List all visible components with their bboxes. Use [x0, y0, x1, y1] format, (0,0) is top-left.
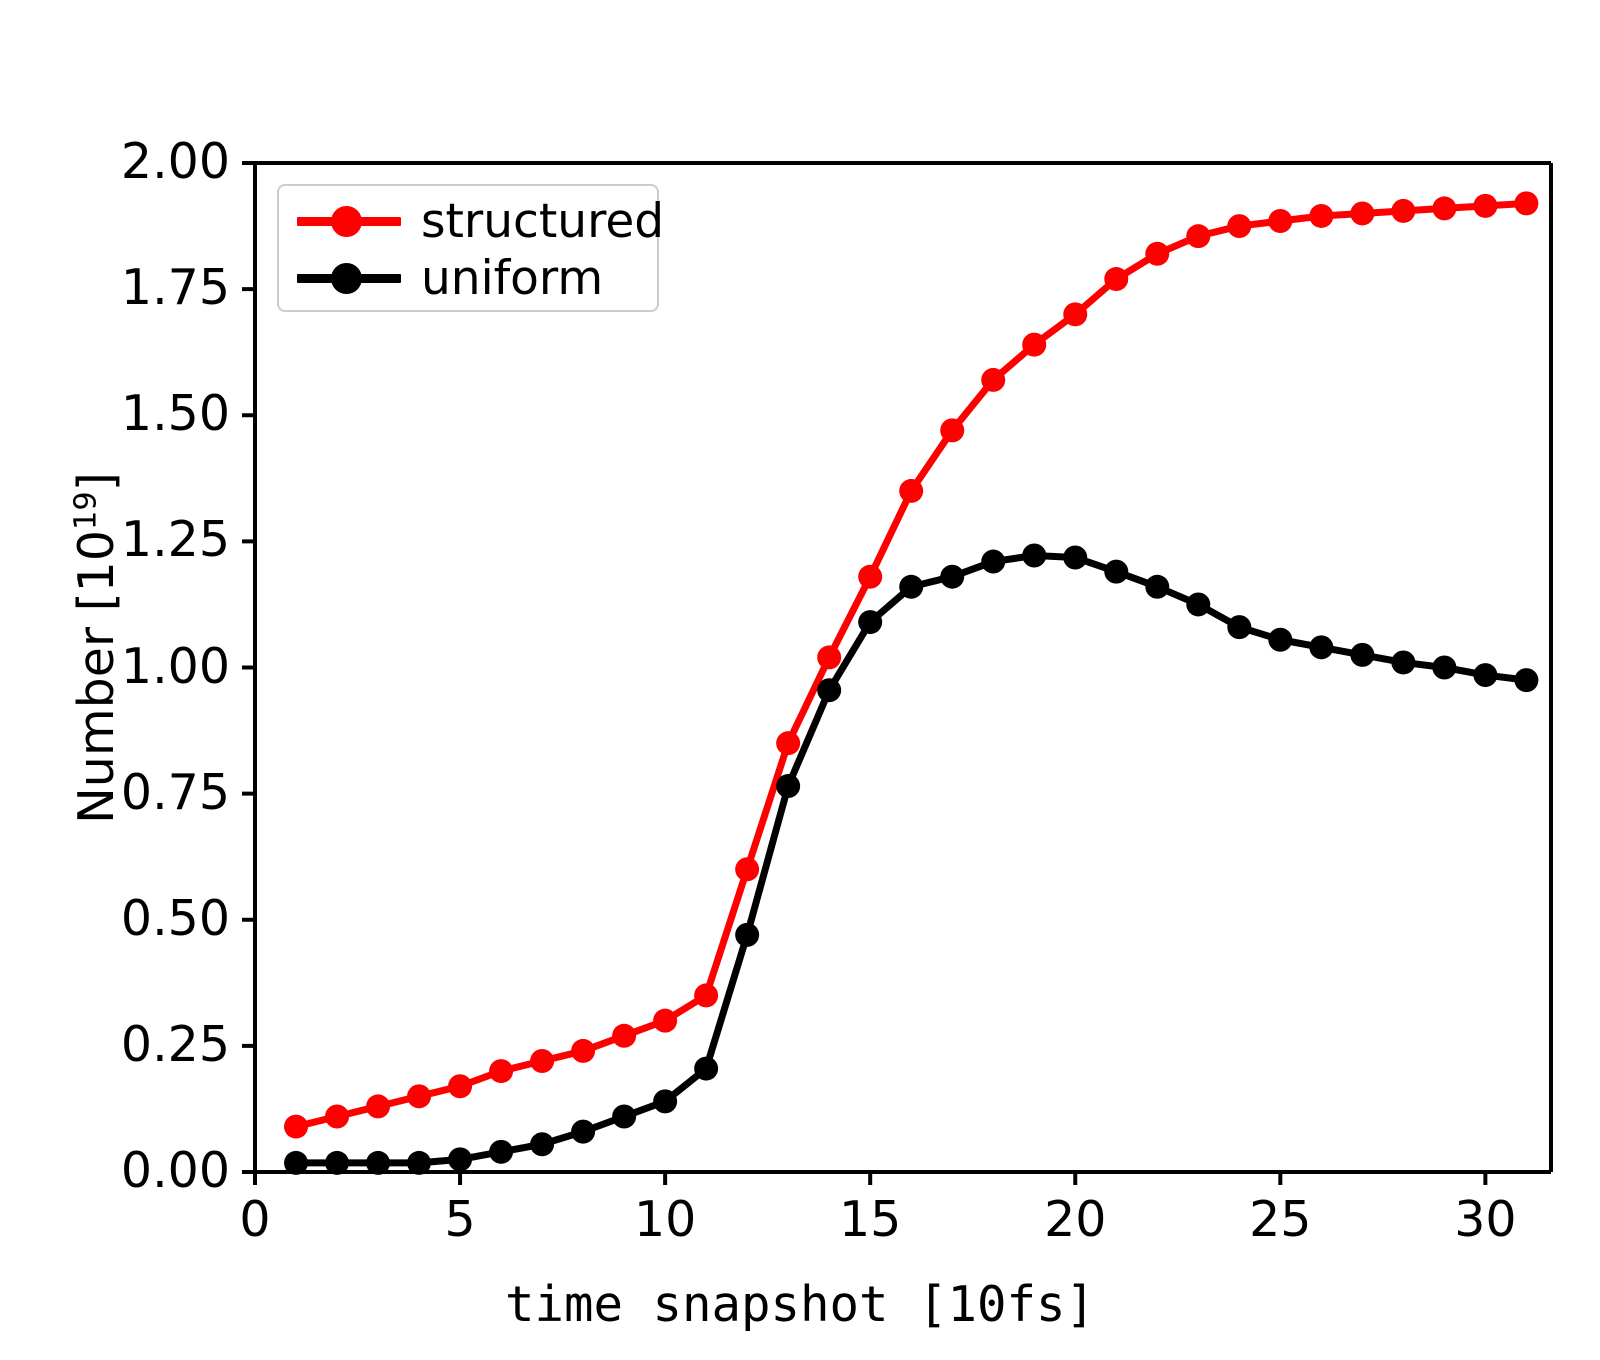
x-tick-label: 30 [1385, 1195, 1585, 1244]
data-point [612, 1105, 636, 1129]
y-axis-label-prefix: Number [10 [68, 530, 125, 824]
data-point [899, 479, 923, 503]
x-tick-label: 0 [155, 1195, 355, 1244]
legend-item-structured[interactable]: structured [279, 192, 657, 250]
y-tick-label: 0.25 [121, 1020, 230, 1069]
x-tick-label: 25 [1180, 1195, 1380, 1244]
legend[interactable]: structured uniform [277, 184, 659, 312]
data-point [1186, 224, 1210, 248]
data-point [325, 1151, 349, 1175]
legend-swatch-structured-icon [297, 198, 401, 244]
data-point [366, 1094, 390, 1118]
data-point [1104, 560, 1128, 584]
data-point [448, 1147, 472, 1171]
legend-swatch-uniform-icon [297, 255, 401, 301]
y-tick-label: 0.50 [121, 894, 230, 943]
data-point [1186, 592, 1210, 616]
data-point [489, 1059, 513, 1083]
data-point [530, 1132, 554, 1156]
data-point [1432, 196, 1456, 220]
legend-label-uniform: uniform [421, 255, 603, 302]
data-point [735, 923, 759, 947]
data-point [653, 1009, 677, 1033]
data-point [776, 774, 800, 798]
x-tick-label: 5 [360, 1195, 560, 1244]
data-point [817, 678, 841, 702]
data-point [1391, 650, 1415, 674]
y-axis-label-exponent: 19 [69, 491, 104, 530]
data-point [325, 1105, 349, 1129]
data-point [1063, 546, 1087, 570]
data-point [735, 857, 759, 881]
data-point [1514, 191, 1538, 215]
data-point [366, 1151, 390, 1175]
series-line-structured [296, 203, 1526, 1126]
data-point [899, 575, 923, 599]
series-line-uniform [296, 556, 1526, 1163]
data-point [1022, 544, 1046, 568]
data-point [1145, 575, 1169, 599]
data-point [1227, 615, 1251, 639]
x-tick-label: 10 [565, 1195, 765, 1244]
data-point [571, 1120, 595, 1144]
data-point [1268, 628, 1292, 652]
data-point [1022, 333, 1046, 357]
data-point [694, 983, 718, 1007]
data-point [858, 610, 882, 634]
y-tick-label: 2.00 [121, 137, 230, 186]
data-point [448, 1074, 472, 1098]
y-tick-label: 1.00 [121, 642, 230, 691]
data-point [1350, 201, 1374, 225]
y-axis-label-suffix: ] [68, 472, 125, 491]
x-tick-label: 15 [770, 1195, 970, 1244]
data-point [284, 1151, 308, 1175]
data-point [612, 1024, 636, 1048]
data-point [571, 1039, 595, 1063]
y-axis-label: Number [1019] [68, 472, 125, 824]
data-point [1104, 267, 1128, 291]
data-point [407, 1084, 431, 1108]
y-tick-label: 1.50 [121, 389, 230, 438]
data-point [940, 565, 964, 589]
y-tick-label: 1.25 [121, 515, 230, 564]
data-point [1473, 663, 1497, 687]
axes-ticks [242, 163, 1485, 1185]
data-point [1473, 194, 1497, 218]
data-point [653, 1089, 677, 1113]
data-point [858, 565, 882, 589]
x-tick-label: 20 [975, 1195, 1175, 1244]
data-point [981, 368, 1005, 392]
series-structured [284, 191, 1538, 1138]
axes-spines [255, 163, 1551, 1172]
data-point [1432, 656, 1456, 680]
data-point [489, 1140, 513, 1164]
legend-item-uniform[interactable]: uniform [279, 249, 657, 307]
data-point [407, 1151, 431, 1175]
data-point [1514, 668, 1538, 692]
data-point [981, 550, 1005, 574]
figure-canvas: 0.000.250.500.751.001.251.501.752.00 051… [0, 0, 1600, 1360]
data-point [1227, 214, 1251, 238]
y-tick-label: 1.75 [121, 263, 230, 312]
y-tick-label: 0.75 [121, 768, 230, 817]
data-point [530, 1049, 554, 1073]
data-point [940, 418, 964, 442]
plot-area [0, 0, 1600, 1360]
legend-label-structured: structured [421, 198, 664, 245]
data-point [1063, 302, 1087, 326]
data-point [1309, 635, 1333, 659]
data-point [1350, 643, 1374, 667]
data-point [1145, 242, 1169, 266]
data-point [1391, 199, 1415, 223]
data-point [694, 1057, 718, 1081]
data-point [817, 645, 841, 669]
x-axis-label: time snapshot [10fs] [0, 1276, 1600, 1333]
data-point [1309, 204, 1333, 228]
data-point [776, 731, 800, 755]
y-tick-label: 0.00 [121, 1146, 230, 1195]
data-point [284, 1115, 308, 1139]
y-axis-label-wrapper: Number [1019] [68, 248, 125, 1048]
data-point [1268, 209, 1292, 233]
data-series-layer [284, 191, 1538, 1175]
